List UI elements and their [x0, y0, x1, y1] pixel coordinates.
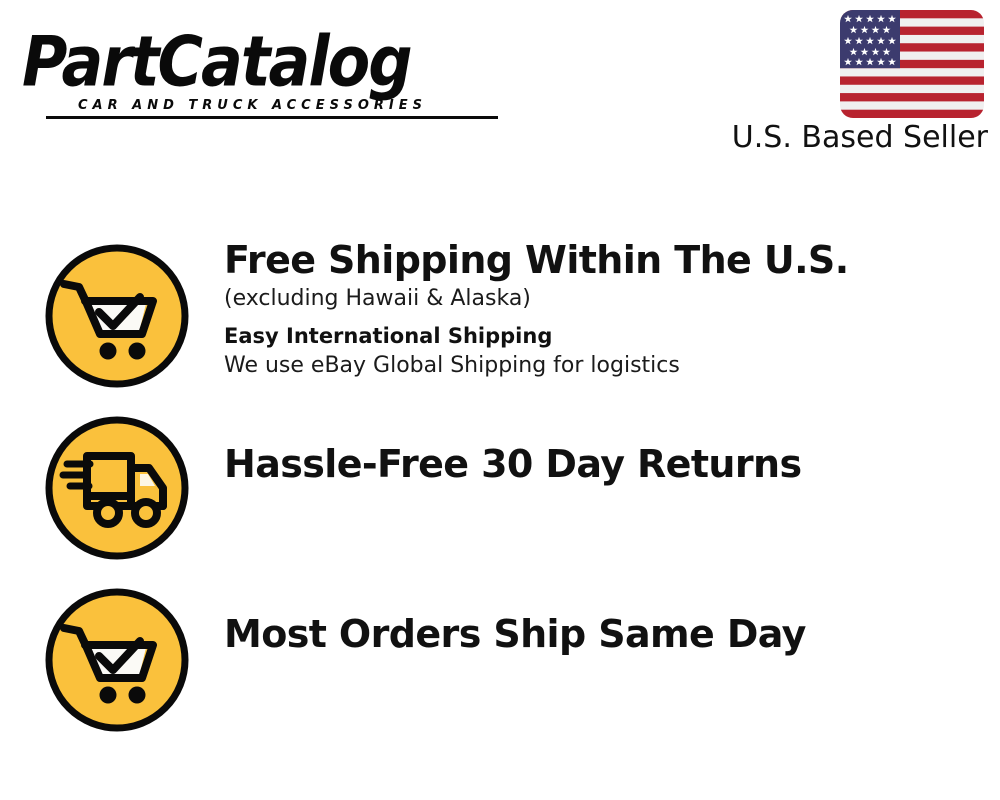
feature-title: Free Shipping Within The U.S.	[224, 236, 964, 284]
feature-text-block: Most Orders Ship Same Day	[224, 610, 964, 658]
us-flag-svg	[840, 10, 984, 118]
feature-row: Most Orders Ship Same Day	[0, 576, 1000, 748]
feature-subtitle: (excluding Hawaii & Alaska)	[224, 284, 964, 314]
feature-row: Free Shipping Within The U.S. (excluding…	[0, 232, 1000, 404]
brand-logo-underline	[46, 116, 498, 119]
cart-check-svg	[43, 242, 191, 390]
us-based-seller-label: U.S. Based Seller	[726, 120, 988, 156]
feature-row: Hassle-Free 30 Day Returns	[0, 404, 1000, 576]
shopping-cart-check-icon	[43, 586, 191, 734]
feature-title: Most Orders Ship Same Day	[224, 610, 964, 658]
truck-svg	[43, 414, 191, 562]
feature-text-block: Hassle-Free 30 Day Returns	[224, 440, 964, 488]
feature-title: Hassle-Free 30 Day Returns	[224, 440, 964, 488]
cart-check-svg	[43, 586, 191, 734]
feature-sub-heading: Easy International Shipping	[224, 321, 964, 351]
feature-text-block: Free Shipping Within The U.S. (excluding…	[224, 236, 964, 381]
feature-sub-detail: We use eBay Global Shipping for logistic…	[224, 351, 964, 381]
brand-tagline: CAR AND TRUCK ACCESSORIES	[78, 98, 427, 113]
brand-wordmark: PartCatalog	[22, 26, 492, 98]
us-flag-icon	[840, 10, 984, 118]
brand-logo: PartCatalog CAR AND TRUCK ACCESSORIES	[22, 26, 492, 118]
feature-list: Free Shipping Within The U.S. (excluding…	[0, 232, 1000, 748]
shipping-info-banner: PartCatalog CAR AND TRUCK ACCESSORIES	[0, 0, 1000, 800]
delivery-truck-icon	[43, 414, 191, 562]
shopping-cart-check-icon	[43, 242, 191, 390]
